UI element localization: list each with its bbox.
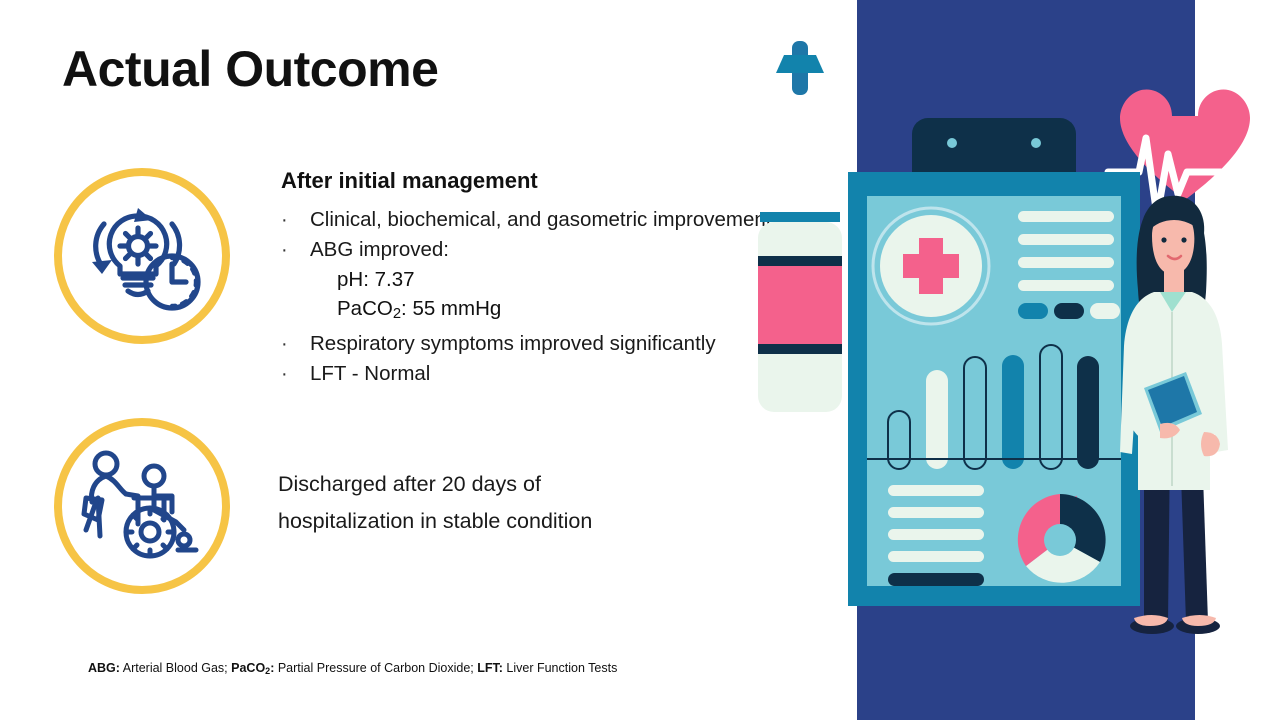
footnote-abbr-paco2-prefix: PaCO [231, 661, 265, 675]
footnote-abbr-lft: LFT: [477, 661, 503, 675]
footnote-abbreviations: ABG: Arterial Blood Gas; PaCO2: Partial … [88, 661, 617, 676]
medical-illustration [740, 0, 1280, 720]
footnote-abbr-abg: ABG: [88, 661, 120, 675]
subscript-two: 2 [393, 306, 401, 322]
list-item-label: LFT - Normal [310, 359, 430, 388]
list-item-label: Clinical, biochemical, and gasometric im… [310, 205, 771, 234]
icon-circle-discharge [54, 418, 230, 594]
discharge-line-2: hospitalization in stable condition [278, 503, 698, 540]
bullet-marker: · [281, 330, 310, 359]
medical-cross-icon [873, 208, 989, 324]
lightbulb-gear-clock-icon [76, 190, 208, 322]
sub-item-label-suffix: : 55 mmHg [401, 297, 501, 320]
footnote-abbr-paco2: PaCO2: [231, 661, 274, 675]
discharge-line-1: Discharged after 20 days of [278, 466, 698, 503]
dropper-bottle [758, 41, 842, 412]
bullet-marker: · [281, 360, 310, 389]
list-item-label: Respiratory symptoms improved significan… [310, 329, 716, 358]
footnote-def-abg: Arterial Blood Gas; [120, 661, 231, 675]
page-title: Actual Outcome [62, 40, 438, 98]
list-item-label: ABG improved: [310, 235, 449, 264]
icon-circle-improvement [54, 168, 230, 344]
clipboard-pill-tags [1018, 303, 1120, 319]
sub-item-label: pH: 7.37 [337, 268, 415, 291]
footnote-def-lft: Liver Function Tests [503, 661, 617, 675]
bullet-marker: · [281, 236, 310, 265]
caregiver-wheelchair-icon [76, 440, 208, 572]
bullet-marker: · [281, 206, 310, 235]
section-heading: After initial management [281, 168, 538, 194]
sub-item-label-prefix: PaCO [337, 297, 393, 320]
discharge-text: Discharged after 20 days of hospitalizat… [278, 466, 698, 540]
footnote-def-paco2: Partial Pressure of Carbon Dioxide; [274, 661, 477, 675]
